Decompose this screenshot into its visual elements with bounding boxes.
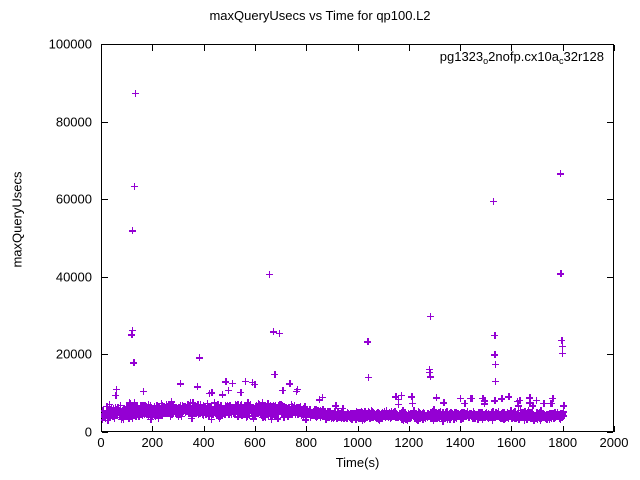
data-point <box>384 410 391 417</box>
data-point <box>191 407 198 414</box>
data-point <box>148 406 155 413</box>
data-point <box>269 403 276 410</box>
data-point <box>491 351 498 358</box>
data-point <box>101 413 107 420</box>
data-point <box>235 406 242 413</box>
data-point <box>253 406 260 413</box>
data-point <box>352 412 359 419</box>
data-point <box>276 408 283 415</box>
data-point <box>277 407 284 414</box>
data-point <box>345 410 352 417</box>
data-point <box>191 402 198 409</box>
data-point <box>272 409 279 416</box>
data-point <box>559 410 566 417</box>
data-point <box>552 409 559 416</box>
data-point <box>234 401 241 408</box>
data-point <box>459 411 466 418</box>
data-point <box>547 411 554 418</box>
data-point <box>328 410 335 417</box>
data-point <box>271 405 278 412</box>
data-point <box>111 411 118 418</box>
data-point <box>529 412 536 419</box>
data-point <box>337 412 344 419</box>
data-point <box>438 414 445 421</box>
data-point <box>392 410 399 417</box>
data-point <box>295 404 302 411</box>
data-point <box>496 414 503 421</box>
data-point <box>116 407 123 414</box>
data-point <box>151 403 158 410</box>
data-point <box>394 414 401 421</box>
data-point <box>466 410 473 417</box>
data-point <box>390 412 397 419</box>
data-point <box>420 413 427 420</box>
data-point <box>323 410 330 417</box>
data-point <box>508 410 515 417</box>
data-point <box>439 415 446 422</box>
data-point <box>539 411 546 418</box>
data-point <box>146 405 153 412</box>
data-point <box>235 409 242 416</box>
data-point <box>385 413 392 420</box>
data-point <box>288 408 295 415</box>
data-point <box>329 412 336 419</box>
data-point <box>278 407 285 414</box>
data-point <box>282 407 289 414</box>
data-point <box>465 413 472 420</box>
data-point <box>457 414 464 421</box>
data-point <box>307 409 314 416</box>
data-point <box>414 414 421 421</box>
data-point <box>236 409 243 416</box>
data-point <box>525 411 532 418</box>
data-point <box>533 413 540 420</box>
data-point <box>220 405 227 412</box>
data-point <box>108 411 115 418</box>
data-point <box>341 412 348 419</box>
data-point <box>182 408 189 415</box>
data-point <box>474 413 481 420</box>
data-point <box>183 405 190 412</box>
data-point <box>134 402 141 409</box>
data-point <box>504 414 511 421</box>
data-point <box>139 406 146 413</box>
data-point <box>336 414 343 421</box>
data-point <box>221 408 228 415</box>
data-point <box>185 409 192 416</box>
data-point <box>519 414 526 421</box>
data-point <box>510 414 517 421</box>
data-point <box>241 406 248 413</box>
data-point <box>483 409 490 416</box>
data-point <box>442 409 449 416</box>
data-point <box>136 410 143 417</box>
data-point <box>287 410 294 417</box>
data-point <box>526 394 533 401</box>
data-point <box>552 411 559 418</box>
data-point <box>433 394 440 401</box>
data-point <box>102 414 109 421</box>
data-point <box>164 403 171 410</box>
data-point <box>464 412 471 419</box>
data-point <box>409 410 416 417</box>
data-point <box>188 415 195 422</box>
data-point <box>211 399 218 406</box>
data-point <box>543 416 550 423</box>
data-point <box>104 417 111 424</box>
data-point <box>487 413 494 420</box>
data-point <box>437 413 444 420</box>
data-point <box>415 413 422 420</box>
data-point <box>449 413 456 420</box>
data-point <box>314 410 321 417</box>
data-point <box>465 412 472 419</box>
data-point <box>420 410 427 417</box>
data-point <box>328 415 335 422</box>
data-point <box>372 412 379 419</box>
data-point <box>106 408 113 415</box>
data-point <box>377 412 384 419</box>
data-point <box>262 414 269 421</box>
data-point <box>488 410 495 417</box>
data-point <box>184 408 191 415</box>
data-point <box>214 402 221 409</box>
data-point <box>407 412 414 419</box>
data-point <box>397 410 404 417</box>
data-point <box>283 405 290 412</box>
data-point <box>360 411 367 418</box>
data-point <box>464 412 471 419</box>
data-point <box>375 416 382 423</box>
data-point <box>485 410 492 417</box>
data-point <box>140 406 147 413</box>
data-point <box>467 412 474 419</box>
data-point <box>471 411 478 418</box>
data-point <box>324 410 331 417</box>
data-point <box>297 403 304 410</box>
data-point <box>230 410 237 417</box>
data-point <box>365 410 372 417</box>
data-point <box>411 412 418 419</box>
data-point <box>319 394 326 401</box>
data-point <box>248 410 255 417</box>
data-point <box>460 410 467 417</box>
data-point <box>319 411 326 418</box>
data-point <box>252 405 259 412</box>
data-point <box>503 412 510 419</box>
data-point <box>489 408 496 415</box>
data-point <box>353 411 360 418</box>
data-point <box>213 412 220 419</box>
data-point <box>288 408 295 415</box>
data-point <box>431 409 438 416</box>
data-point <box>204 400 211 407</box>
data-point <box>415 409 422 416</box>
data-point <box>278 407 285 414</box>
data-point <box>457 416 464 423</box>
data-point <box>361 416 368 423</box>
data-point <box>191 404 198 411</box>
data-point <box>326 412 333 419</box>
data-point <box>129 406 136 413</box>
data-point <box>467 395 474 402</box>
data-point <box>559 350 566 357</box>
data-point <box>549 411 556 418</box>
data-point <box>114 404 121 411</box>
data-point <box>306 409 313 416</box>
data-point <box>542 414 549 421</box>
data-point <box>441 412 448 419</box>
data-point <box>378 410 385 417</box>
data-point <box>101 407 106 414</box>
data-point <box>352 410 359 417</box>
data-point <box>259 407 266 414</box>
data-point <box>318 408 325 415</box>
data-point <box>128 405 135 412</box>
data-point <box>173 411 180 418</box>
data-point <box>274 407 281 414</box>
data-point <box>314 407 321 414</box>
data-point <box>558 414 565 421</box>
data-point <box>357 410 364 417</box>
data-point <box>200 405 207 412</box>
data-point <box>114 412 121 419</box>
data-point <box>283 409 290 416</box>
scatter-chart: maxQueryUsecs vs Time for qp100.L2 maxQu… <box>0 0 640 480</box>
data-point <box>502 412 509 419</box>
data-point <box>281 408 288 415</box>
data-point <box>439 409 446 416</box>
data-point <box>297 408 304 415</box>
data-point <box>104 410 111 417</box>
data-point <box>181 404 188 411</box>
data-point <box>316 396 323 403</box>
data-point <box>380 413 387 420</box>
data-point <box>435 414 442 421</box>
data-point <box>291 405 298 412</box>
data-point <box>320 413 327 420</box>
data-point <box>362 411 369 418</box>
data-point <box>429 412 436 419</box>
data-point <box>518 411 525 418</box>
data-point <box>264 400 271 407</box>
data-point <box>338 415 345 422</box>
data-point <box>382 414 389 421</box>
data-point <box>509 412 516 419</box>
data-point <box>487 413 494 420</box>
data-point <box>379 410 386 417</box>
data-point <box>409 412 416 419</box>
data-point <box>256 402 263 409</box>
data-point <box>430 408 437 415</box>
data-point <box>401 409 408 416</box>
data-point <box>351 414 358 421</box>
data-point <box>443 408 450 415</box>
data-point <box>435 409 442 416</box>
data-point <box>510 409 517 416</box>
data-point <box>456 412 463 419</box>
data-point <box>365 408 372 415</box>
data-point <box>343 413 350 420</box>
data-point <box>424 413 431 420</box>
data-point <box>208 411 215 418</box>
data-point <box>372 411 379 418</box>
data-point <box>441 411 448 418</box>
data-point <box>473 412 480 419</box>
data-point <box>482 413 489 420</box>
data-point <box>270 403 277 410</box>
data-point <box>270 411 277 418</box>
data-point <box>148 406 155 413</box>
data-point <box>126 405 133 412</box>
data-point <box>276 406 283 413</box>
data-point <box>428 412 435 419</box>
data-point <box>120 410 127 417</box>
data-point <box>359 412 366 419</box>
data-point <box>356 410 363 417</box>
data-point <box>504 414 511 421</box>
data-point <box>107 409 114 416</box>
data-point <box>392 393 399 400</box>
data-point <box>244 408 251 415</box>
data-point <box>446 411 453 418</box>
data-point <box>395 401 402 408</box>
data-point <box>331 414 338 421</box>
data-point <box>421 414 428 421</box>
data-point <box>122 413 129 420</box>
data-point <box>172 410 179 417</box>
data-point <box>237 407 244 414</box>
data-point <box>288 409 295 416</box>
data-point <box>291 402 298 409</box>
data-point <box>540 411 547 418</box>
data-point <box>406 412 413 419</box>
data-point <box>310 412 317 419</box>
data-point <box>515 402 522 409</box>
data-point <box>101 413 108 420</box>
data-point <box>515 412 522 419</box>
data-point <box>288 401 295 408</box>
data-point <box>323 413 330 420</box>
data-point <box>174 408 181 415</box>
data-point <box>402 416 409 423</box>
data-point <box>146 404 153 411</box>
data-point <box>549 410 556 417</box>
data-point <box>481 412 488 419</box>
data-point <box>401 410 408 417</box>
data-point <box>483 413 490 420</box>
data-point <box>548 400 555 407</box>
data-point <box>113 412 120 419</box>
data-point <box>546 410 553 417</box>
data-point <box>354 410 361 417</box>
data-point <box>499 409 506 416</box>
data-point <box>335 411 342 418</box>
data-point <box>555 412 562 419</box>
data-point <box>303 411 310 418</box>
data-point <box>430 406 437 413</box>
data-point <box>450 413 457 420</box>
data-point <box>458 413 465 420</box>
data-point <box>126 409 133 416</box>
data-point <box>500 416 507 423</box>
data-point <box>110 407 117 414</box>
data-point <box>113 409 120 416</box>
data-point <box>375 414 382 421</box>
data-point <box>275 408 282 415</box>
data-point <box>389 412 396 419</box>
data-point <box>519 412 526 419</box>
data-point <box>366 413 373 420</box>
data-point <box>385 414 392 421</box>
data-point <box>505 393 512 400</box>
data-point <box>387 411 394 418</box>
data-point <box>328 413 335 420</box>
data-point <box>559 411 566 418</box>
data-point <box>506 410 513 417</box>
data-point <box>189 399 196 406</box>
data-point <box>488 413 495 420</box>
data-point <box>166 402 173 409</box>
data-point <box>269 413 276 420</box>
data-point <box>325 408 332 415</box>
data-point <box>355 410 362 417</box>
data-point <box>402 411 409 418</box>
data-point <box>501 410 508 417</box>
data-point <box>333 413 340 420</box>
data-point <box>253 409 260 416</box>
data-point <box>266 403 273 410</box>
data-point <box>464 411 471 418</box>
data-point <box>284 411 291 418</box>
data-point <box>494 413 501 420</box>
data-point <box>101 416 106 423</box>
data-point <box>128 413 135 420</box>
data-point <box>516 397 523 404</box>
data-point <box>495 410 502 417</box>
data-point <box>526 399 533 406</box>
data-point <box>361 415 368 422</box>
data-point <box>458 410 465 417</box>
data-point <box>444 412 451 419</box>
data-point <box>427 313 434 320</box>
data-point <box>376 415 383 422</box>
data-point <box>539 410 546 417</box>
data-point <box>309 410 316 417</box>
data-point <box>389 412 396 419</box>
data-point <box>182 407 189 414</box>
data-point <box>540 411 547 418</box>
data-point <box>400 413 407 420</box>
data-point <box>154 404 161 411</box>
data-point <box>268 416 275 423</box>
data-point <box>547 400 554 407</box>
data-point <box>435 412 442 419</box>
data-point <box>116 410 123 417</box>
data-point <box>521 410 528 417</box>
data-point <box>203 409 210 416</box>
data-point <box>191 409 198 416</box>
data-point <box>142 406 149 413</box>
data-point <box>213 409 220 416</box>
data-point <box>381 410 388 417</box>
data-point <box>243 409 250 416</box>
data-point <box>389 413 396 420</box>
data-point <box>294 406 301 413</box>
data-point <box>170 401 177 408</box>
data-point <box>179 405 186 412</box>
data-point <box>290 408 297 415</box>
